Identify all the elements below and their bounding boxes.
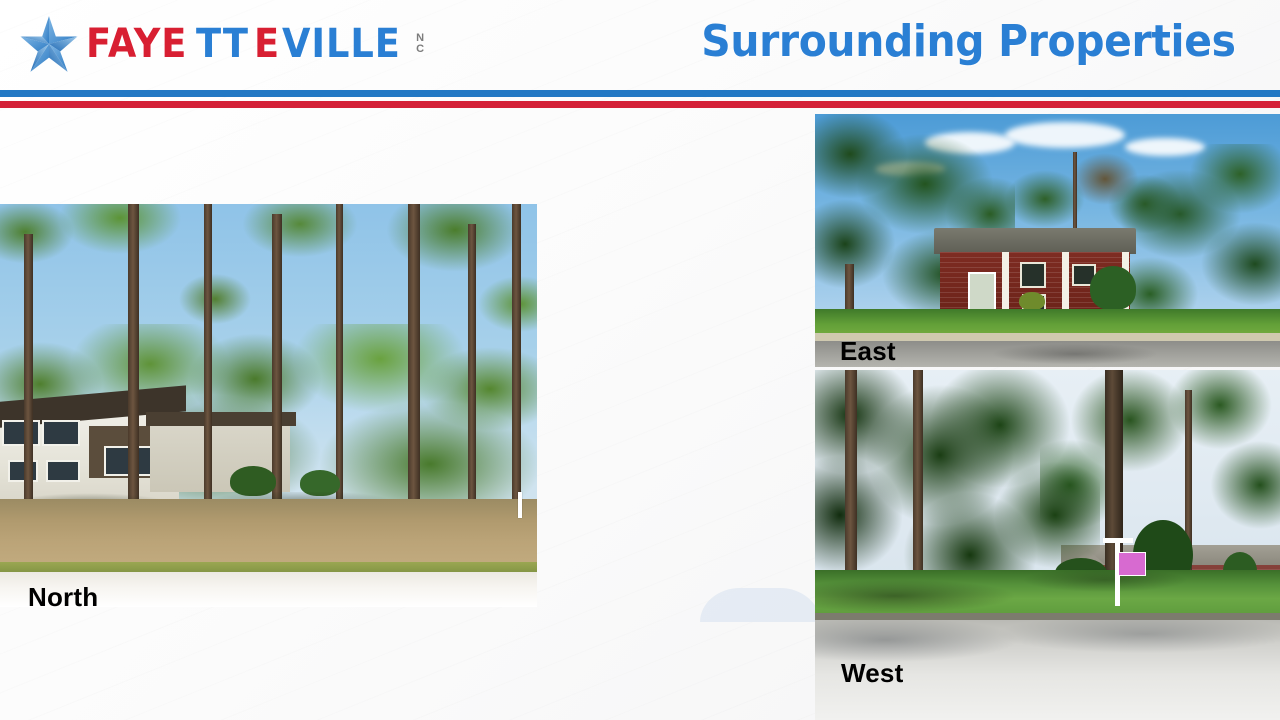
photo-label-west: West	[841, 658, 903, 689]
east-window	[1020, 262, 1046, 288]
wordmark-part-4: VILLE	[282, 24, 401, 64]
slide-header: FAYE TT E VILLE N C Surrounding Properti…	[0, 0, 1280, 88]
north-tree-trunk	[128, 204, 139, 534]
north-survey-marker	[518, 492, 522, 518]
north-window	[2, 420, 40, 446]
east-porch-column	[1062, 252, 1069, 313]
photo-west: West	[815, 370, 1280, 720]
north-tree-canopy-upper	[0, 204, 537, 404]
photo-label-north: North	[28, 582, 98, 607]
header-divider-blue	[0, 90, 1280, 97]
east-porch-column	[1002, 252, 1009, 313]
north-tree-trunk	[24, 234, 33, 534]
photo-north: North	[0, 204, 537, 607]
north-pine-straw-ground	[0, 499, 537, 571]
state-letter-c: C	[416, 44, 424, 55]
wordmark-part-3: E	[254, 24, 280, 64]
north-tree-trunk	[204, 204, 212, 524]
north-window	[8, 460, 38, 482]
east-road-shadow	[965, 342, 1185, 367]
star-icon	[18, 14, 80, 74]
page-title: Surrounding Properties	[702, 16, 1236, 67]
logo-wordmark: FAYE TT E VILLE N C	[86, 24, 425, 64]
north-tree-trunk	[408, 204, 420, 529]
photo-label-east: East	[840, 336, 896, 367]
north-tree-trunk	[512, 204, 521, 516]
north-tree-trunk	[468, 224, 476, 524]
west-tree-trunk	[845, 370, 857, 585]
north-tree-trunk	[336, 204, 343, 522]
header-divider-red	[0, 101, 1280, 108]
west-sign-panel	[1118, 552, 1146, 576]
west-lawn-shadows	[815, 568, 1280, 618]
east-house-roof	[934, 228, 1136, 254]
east-shrub	[1019, 292, 1045, 310]
slide: FAYE TT E VILLE N C Surrounding Properti…	[0, 0, 1280, 720]
photo-east: East	[815, 114, 1280, 367]
west-tree-trunk	[913, 370, 923, 580]
north-window	[46, 460, 80, 482]
fayetteville-logo: FAYE TT E VILLE N C	[18, 14, 425, 74]
wordmark-part-1: FAYE	[86, 24, 187, 64]
east-shrub	[1090, 266, 1136, 310]
logo-state-abbrev: N C	[416, 33, 424, 55]
north-window	[42, 420, 80, 446]
wordmark-part-2: TT	[196, 24, 249, 64]
background-swoosh-shape	[700, 588, 820, 622]
